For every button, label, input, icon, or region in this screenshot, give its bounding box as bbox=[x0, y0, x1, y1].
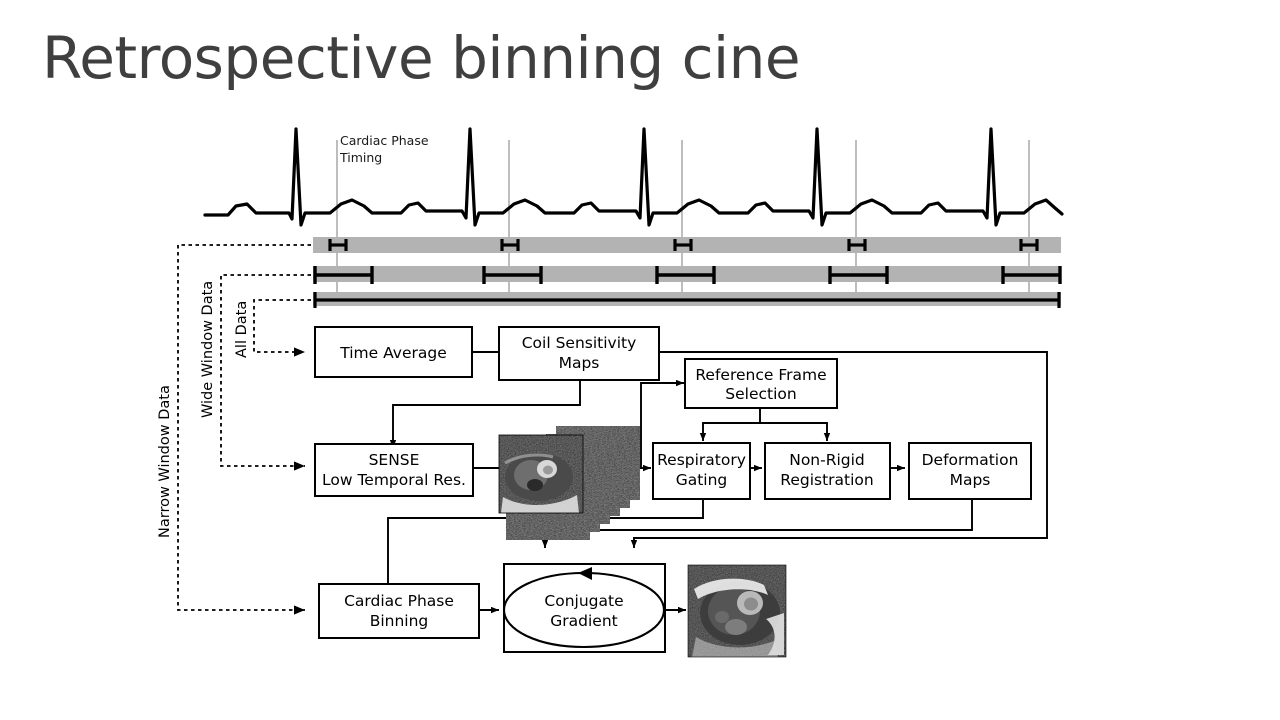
sense-label-2: Low Temporal Res. bbox=[322, 471, 466, 489]
sense-label-1: SENSE bbox=[369, 451, 420, 469]
respiratory-gating-label-2: Gating bbox=[676, 471, 728, 489]
box-coil-sensitivity-maps[interactable]: Coil Sensitivity Maps bbox=[499, 327, 659, 380]
vertical-label-all-data: All Data bbox=[234, 301, 250, 358]
wide-window-data-label: Wide Window Data bbox=[200, 281, 216, 418]
reference-frame-label-1: Reference Frame bbox=[695, 366, 826, 384]
mri-stack-image bbox=[499, 426, 640, 540]
wide-window-bar bbox=[313, 266, 1061, 284]
all-data-bar bbox=[313, 292, 1061, 308]
pipeline-diagram: Cardiac Phase Timing bbox=[0, 118, 1280, 678]
coil-sensitivity-label-2: Maps bbox=[559, 354, 600, 372]
deformation-maps-label-1: Deformation bbox=[922, 451, 1019, 469]
narrow-window-data-label: Narrow Window Data bbox=[157, 385, 173, 538]
box-sense-low-temporal-res[interactable]: SENSE Low Temporal Res. bbox=[315, 444, 473, 496]
non-rigid-label-2: Registration bbox=[780, 471, 873, 489]
deformation-maps-label-2: Maps bbox=[950, 471, 991, 489]
reference-frame-label-2: Selection bbox=[725, 385, 796, 403]
conjugate-gradient-label-1: Conjugate bbox=[544, 592, 623, 610]
box-cardiac-phase-binning[interactable]: Cardiac Phase Binning bbox=[319, 584, 479, 638]
coil-sensitivity-label-1: Coil Sensitivity bbox=[522, 334, 637, 352]
cardiac-binning-label-1: Cardiac Phase bbox=[344, 592, 454, 610]
box-deformation-maps[interactable]: Deformation Maps bbox=[909, 443, 1031, 499]
respiratory-gating-label-1: Respiratory bbox=[657, 451, 746, 469]
slide-canvas: Retrospective binning cine bbox=[0, 0, 1280, 720]
box-respiratory-gating[interactable]: Respiratory Gating bbox=[653, 443, 750, 499]
page-title: Retrospective binning cine bbox=[42, 28, 800, 89]
conjugate-gradient-label-2: Gradient bbox=[550, 612, 617, 630]
data-routing-dotted bbox=[178, 245, 311, 610]
time-average-label: Time Average bbox=[339, 344, 447, 362]
box-reference-frame-selection[interactable]: Reference Frame Selection bbox=[685, 359, 837, 408]
cardiac-binning-label-2: Binning bbox=[370, 612, 429, 630]
all-data-label: All Data bbox=[234, 301, 250, 358]
non-rigid-label-1: Non-Rigid bbox=[789, 451, 865, 469]
vertical-label-narrow-window-data: Narrow Window Data bbox=[157, 385, 173, 538]
narrow-window-bar bbox=[313, 237, 1061, 253]
vertical-label-wide-window-data: Wide Window Data bbox=[200, 281, 216, 418]
mri-output-image bbox=[688, 565, 786, 657]
box-non-rigid-registration[interactable]: Non-Rigid Registration bbox=[765, 443, 890, 499]
ecg-waveform bbox=[205, 129, 1062, 225]
ecg-annotation-line1: Cardiac Phase bbox=[340, 133, 429, 148]
box-conjugate-gradient[interactable]: Conjugate Gradient bbox=[504, 564, 665, 652]
box-time-average[interactable]: Time Average bbox=[315, 327, 472, 377]
ecg-annotation-line2: Timing bbox=[339, 150, 382, 165]
